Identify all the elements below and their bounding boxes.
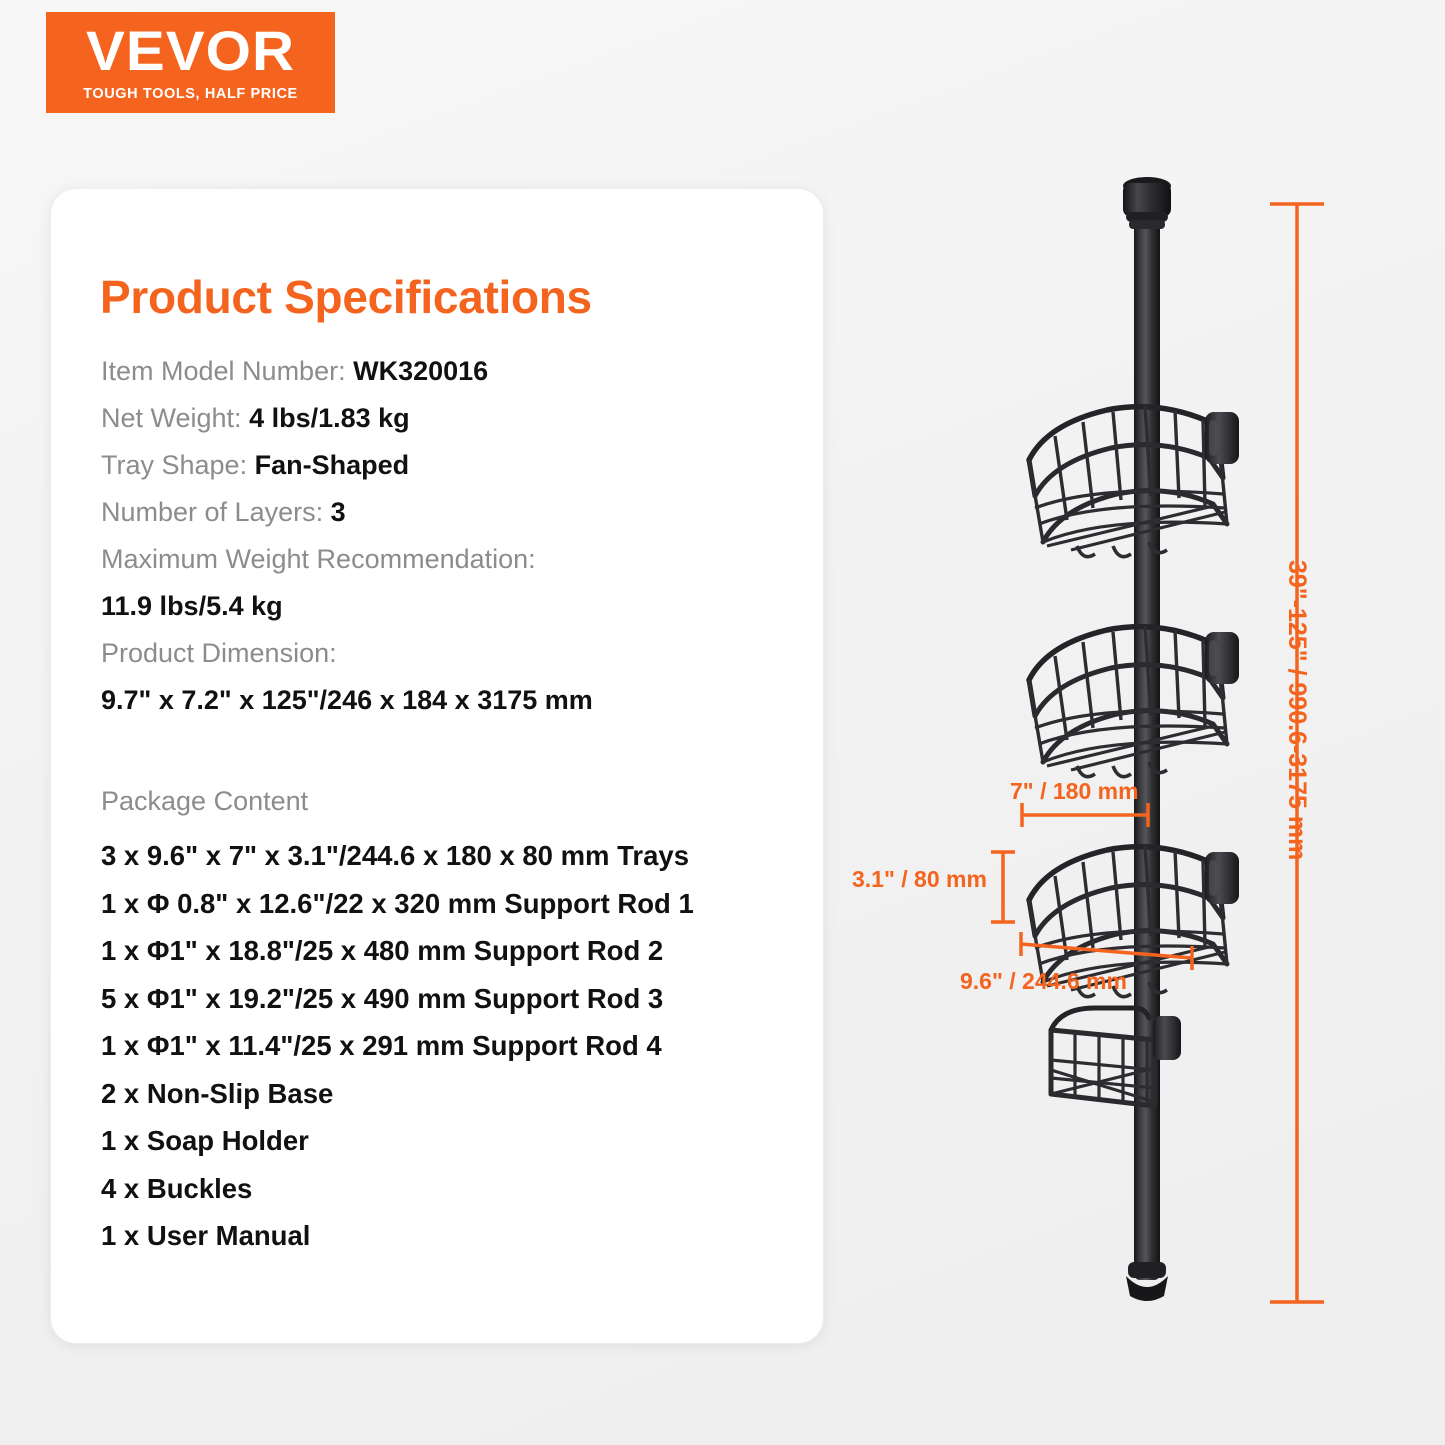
page-title: Product Specifications: [100, 270, 592, 324]
spec-value: 9.7" x 7.2" x 125"/246 x 184 x 3175 mm: [101, 677, 781, 724]
package-content-item: 2 x Non-Slip Base: [101, 1070, 801, 1118]
package-content-list: 3 x 9.6" x 7" x 3.1"/244.6 x 180 x 80 mm…: [101, 832, 801, 1260]
vevor-logo: VEVOR TOUGH TOOLS, HALF PRICE: [46, 12, 335, 113]
spec-row: Number of Layers: 3: [101, 489, 781, 536]
product-illustration: [930, 150, 1270, 1330]
spec-row: Net Weight: 4 lbs/1.83 kg: [101, 395, 781, 442]
package-content-item: 1 x Φ1" x 18.8"/25 x 480 mm Support Rod …: [101, 927, 801, 975]
specifications-list: Item Model Number: WK320016Net Weight: 4…: [101, 348, 781, 724]
dimension-label-total-height: 39"-125" / 990.6-3175 mm: [1282, 560, 1311, 860]
spec-value: 3: [331, 497, 346, 527]
spec-row: Tray Shape: Fan-Shaped: [101, 442, 781, 489]
package-content-item: 1 x User Manual: [101, 1212, 801, 1260]
spec-value: 11.9 lbs/5.4 kg: [101, 583, 781, 630]
package-content-item: 1 x Φ 0.8" x 12.6"/22 x 320 mm Support R…: [101, 880, 801, 928]
package-content-item: 1 x Soap Holder: [101, 1117, 801, 1165]
spec-value: Fan-Shaped: [255, 450, 410, 480]
brand-wordmark: VEVOR: [86, 23, 295, 79]
spec-label: Product Dimension:: [101, 630, 781, 677]
package-content-item: 1 x Φ1" x 11.4"/25 x 291 mm Support Rod …: [101, 1022, 801, 1070]
dimension-label-tray-height: 3.1" / 80 mm: [852, 866, 987, 893]
brand-tagline: TOUGH TOOLS, HALF PRICE: [83, 86, 298, 102]
package-content-item: 5 x Φ1" x 19.2"/25 x 490 mm Support Rod …: [101, 975, 801, 1023]
package-content-item: 3 x 9.6" x 7" x 3.1"/244.6 x 180 x 80 mm…: [101, 832, 801, 880]
spec-value: WK320016: [353, 356, 488, 386]
spec-row: Item Model Number: WK320016: [101, 348, 781, 395]
package-content-title: Package Content: [101, 786, 308, 817]
dimension-label-width-top: 7" / 180 mm: [1010, 778, 1139, 805]
spec-label: Maximum Weight Recommendation:: [101, 536, 781, 583]
package-content-item: 4 x Buckles: [101, 1165, 801, 1213]
dimension-label-width-bottom: 9.6" / 244.6 mm: [960, 968, 1127, 995]
spec-value: 4 lbs/1.83 kg: [249, 403, 410, 433]
